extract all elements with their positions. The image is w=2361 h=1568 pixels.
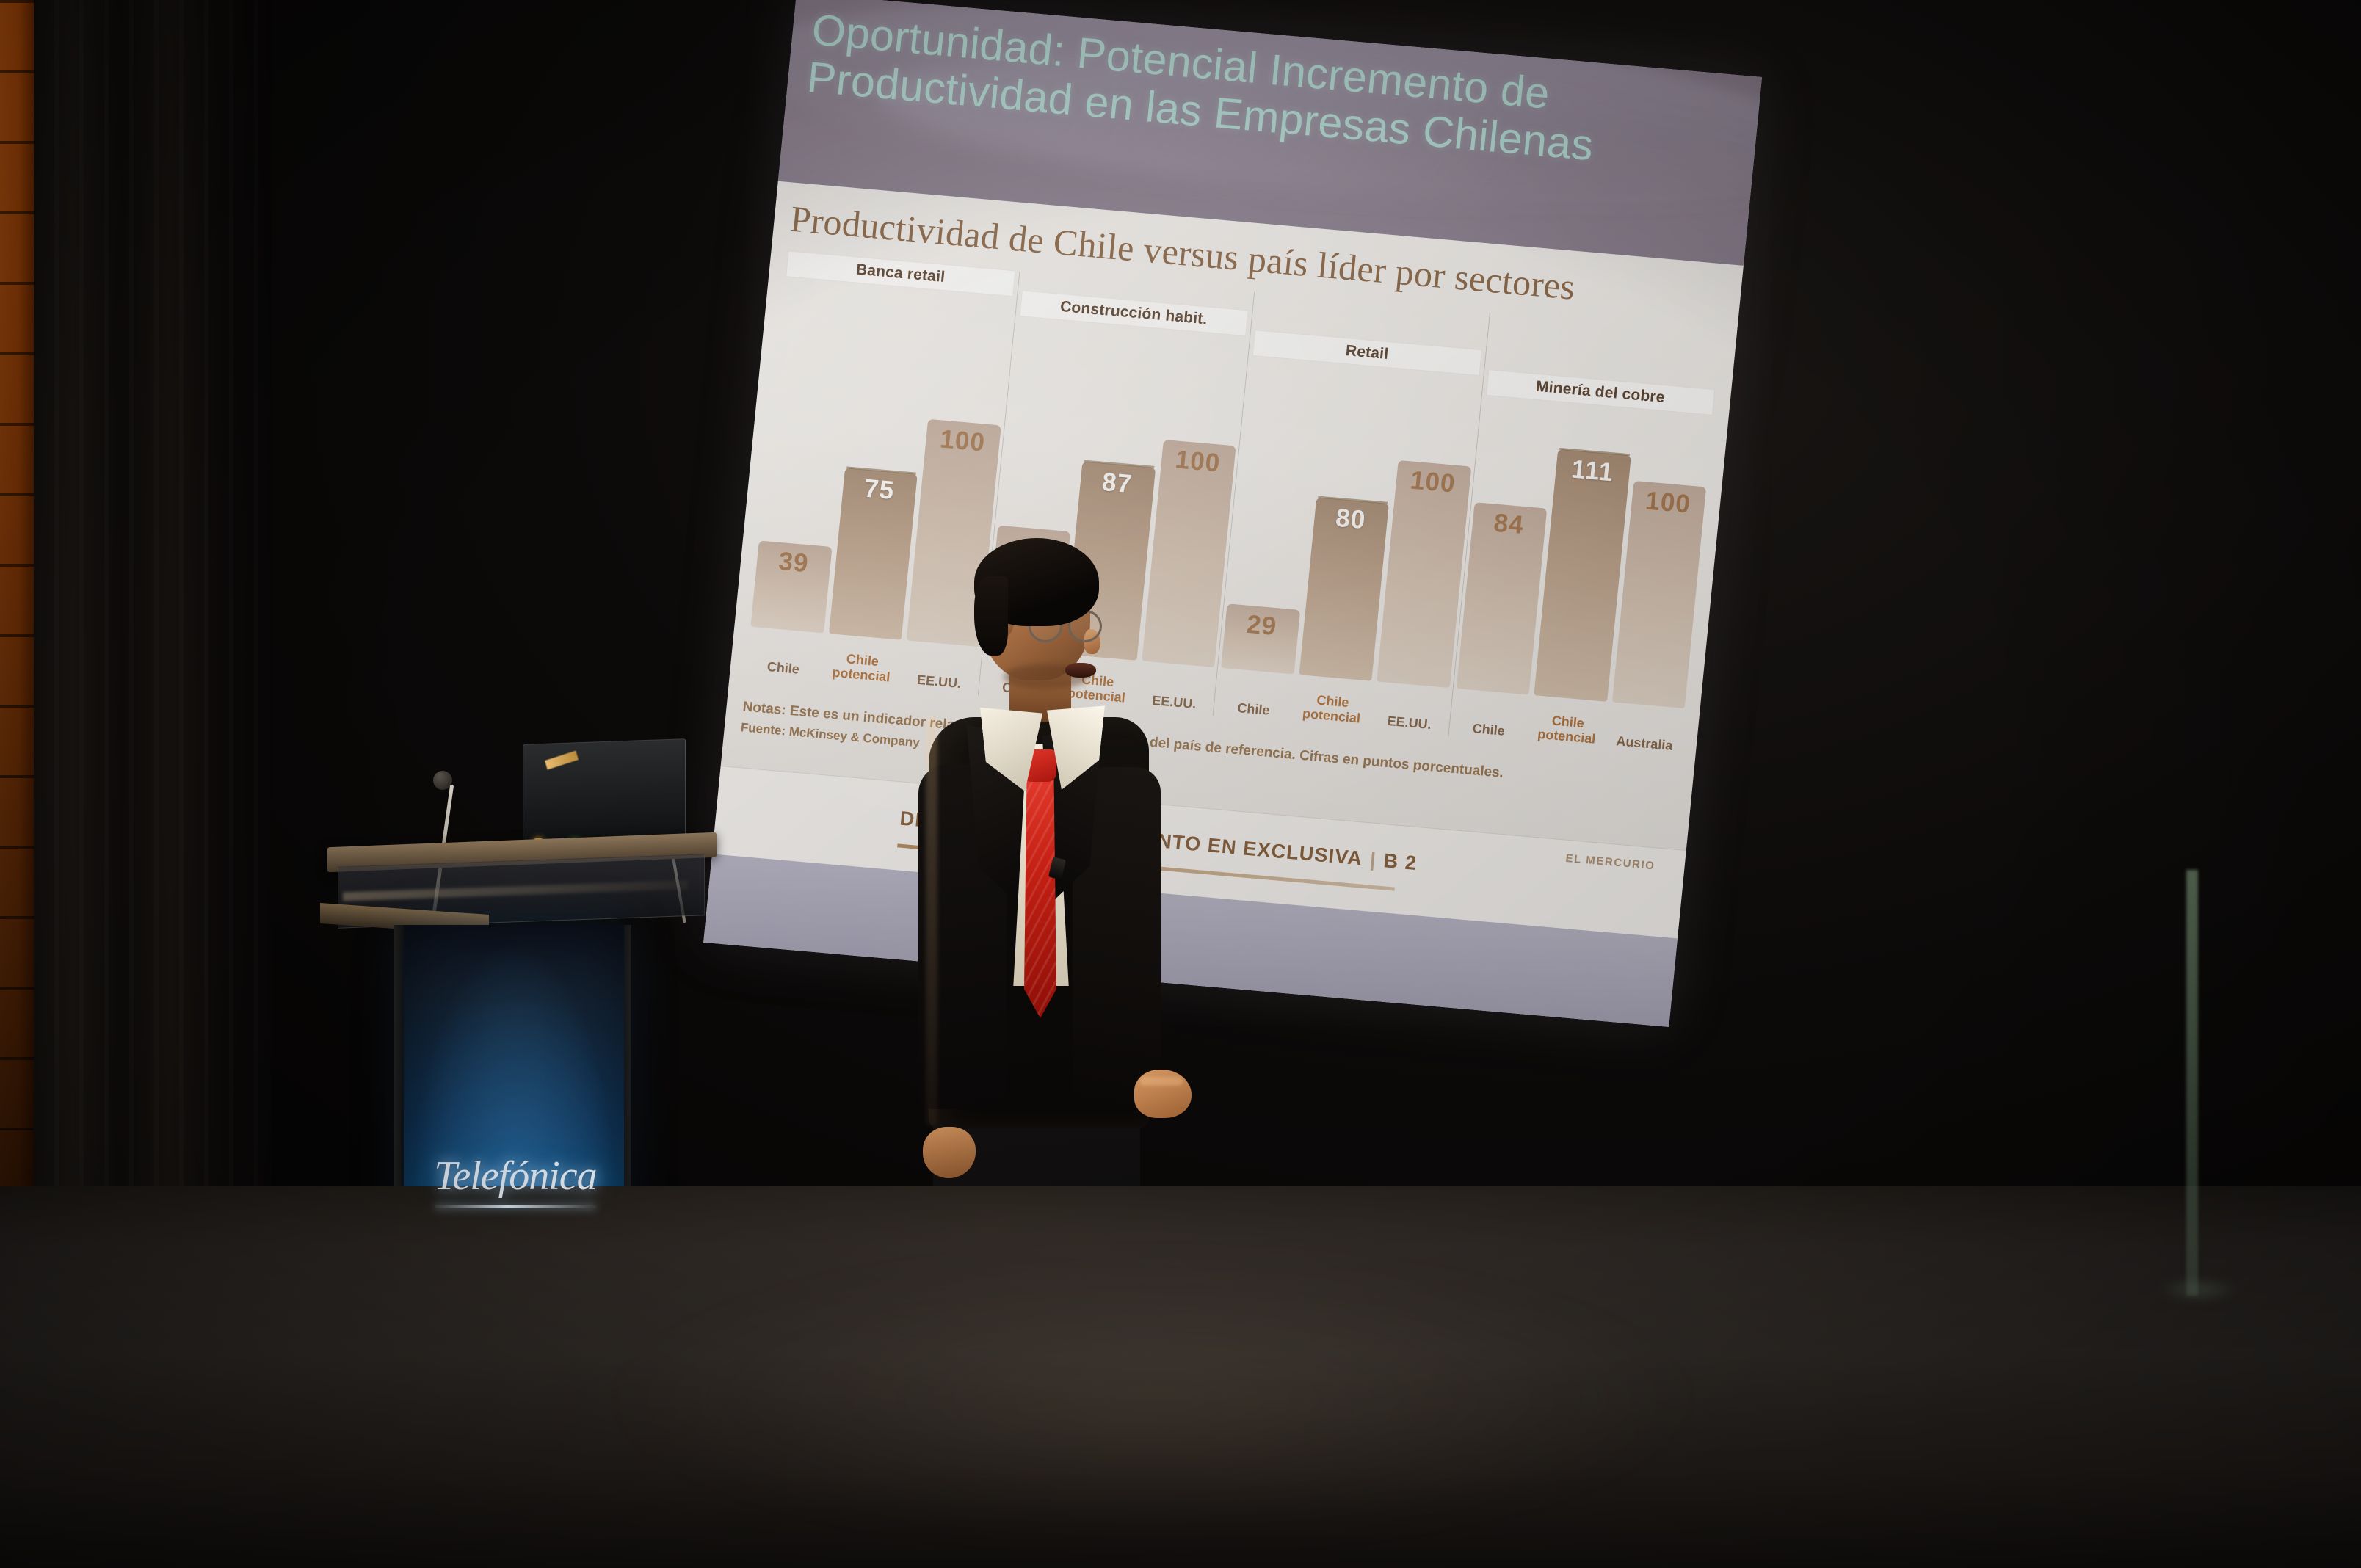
presenter-necktie [1024, 776, 1056, 1018]
banner-page-number: B 2 [1382, 849, 1418, 874]
chart-bar-value-label: 39 [755, 545, 831, 580]
telefonica-logo-text: Telefónica [413, 1153, 618, 1199]
chart-bar-category-label: Australia [1607, 733, 1681, 754]
chart-bar-value-label: 100 [1160, 443, 1236, 479]
chart-sector-title: Construcción habit. [1020, 291, 1248, 335]
chart-bar-category-label: Chilepotencial [824, 650, 899, 686]
projection-screen: Oportunidad: Potencial Incremento de Pro… [703, 0, 1762, 1034]
chart-bar-value-label: 100 [1631, 485, 1706, 520]
presenter-hair-side [974, 576, 1008, 656]
brick-wall [0, 0, 34, 1204]
chart-bar-category-label: Chile [746, 657, 820, 678]
chart-bars: 29Chile80Chilepotencial100EE.UU. [1221, 402, 1476, 689]
productivity-bar-chart: Banca retail39Chile75Chilepotencial100EE… [743, 251, 1724, 757]
stage-light-pole-glow [2158, 1277, 2239, 1302]
chart-bar: 84Chile [1456, 502, 1547, 694]
chart-bar: 80Chilepotencial [1299, 498, 1389, 681]
telefonica-logo-underline [435, 1205, 596, 1208]
banner-separator: | [1362, 848, 1385, 872]
presenter-rim-light [926, 716, 937, 1127]
chart-bar-value-label: 29 [1224, 608, 1299, 643]
chart-bar-category-label: Chilepotencial [1294, 691, 1370, 727]
chart-bar: 39Chile [750, 540, 832, 633]
chart-bar-value-label: 80 [1313, 502, 1388, 537]
chart-sector-group: Retail29Chile80Chilepotencial100EE.UU. [1214, 292, 1490, 736]
chart-bar-category-label: Chilepotencial [1529, 711, 1605, 747]
chart-bar-category-label: Chile [1216, 698, 1291, 719]
chart-bar-value-label: 75 [841, 472, 917, 507]
chart-sector-title: Retail [1253, 330, 1481, 375]
chart-sector-group: Minería del cobre84Chile111Chilepotencia… [1448, 313, 1724, 757]
chart-bar-value-label: 84 [1471, 507, 1547, 542]
chart-sector-title: Minería del cobre [1487, 370, 1715, 415]
chart-bar-value-label: 111 [1555, 454, 1631, 489]
chart-bar-category-label: EE.UU. [1372, 712, 1446, 733]
stage-light-pole [2186, 870, 2198, 1296]
presenter-hand-left [923, 1127, 976, 1178]
chart-bar-value-label [997, 530, 1070, 537]
presenter-mouth [1065, 663, 1096, 678]
chart-bar-value-label: 87 [1079, 465, 1155, 501]
banner-brand: EL MERCURIO [1565, 852, 1656, 873]
auditorium-stage-scene: Oportunidad: Potencial Incremento de Pro… [0, 0, 2361, 1568]
telefonica-logo: Telefónica [413, 1153, 618, 1208]
chart-bar-value-label: 100 [1395, 464, 1470, 499]
chart-bar: 29Chile [1221, 603, 1300, 674]
chart-bars: 84Chile111Chilepotencial100Australia [1456, 423, 1711, 709]
presenter-hand-right [1134, 1070, 1192, 1118]
stage-floor-light-pool [602, 1260, 1703, 1539]
chart-bar-value-label: 100 [925, 423, 1001, 458]
laptop-screen[interactable] [523, 738, 686, 849]
chart-bar-category-label: Chile [1451, 719, 1526, 740]
